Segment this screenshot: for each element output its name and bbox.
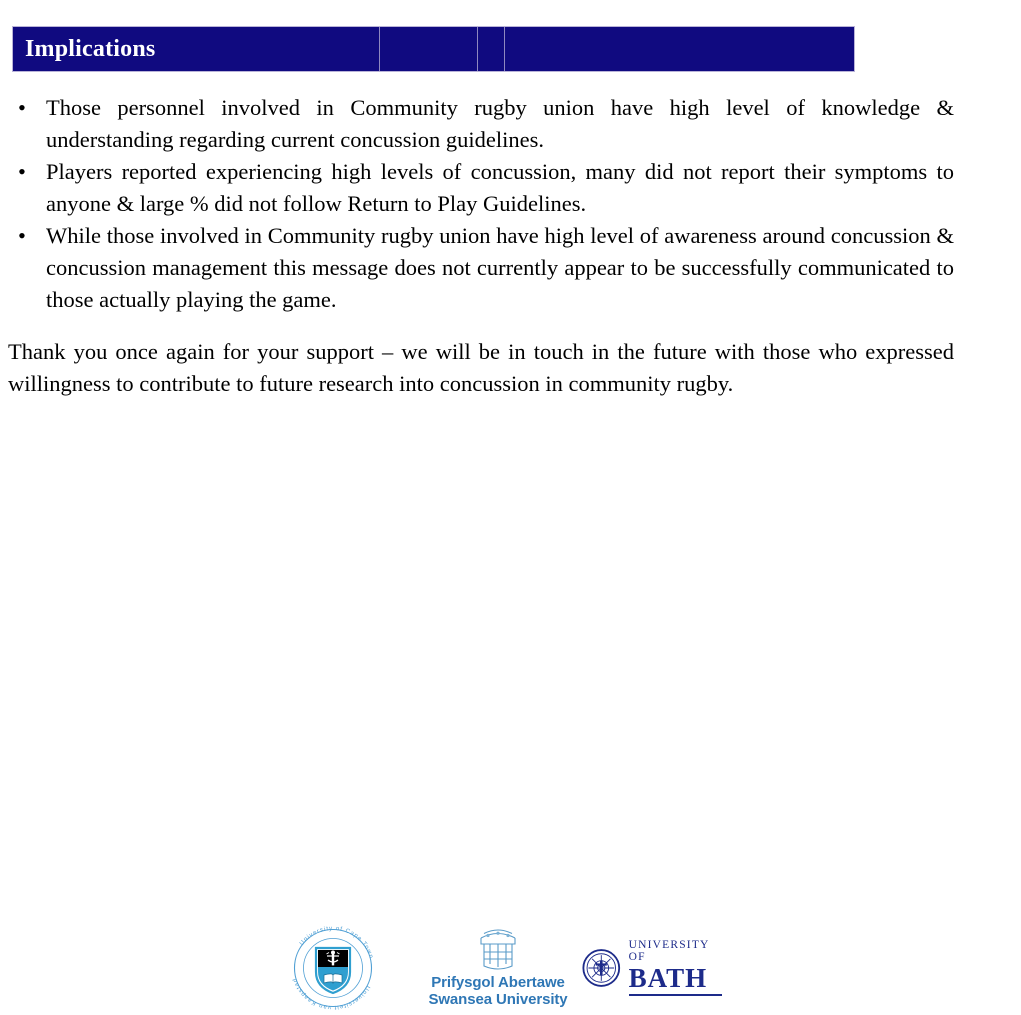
closing-paragraph: Thank you once again for your support – … [8, 336, 954, 400]
title-bar-divider-1 [379, 27, 380, 71]
bath-logo-text: UNIVERSITY OF BATH [629, 940, 722, 996]
title-bar-divider-2 [477, 27, 478, 71]
bath-logo-rule [629, 994, 722, 996]
university-of-bath-crest-icon [582, 947, 621, 989]
university-of-cape-town-seal-icon: University of Cape Town Universiteit van… [283, 922, 383, 1010]
swansea-logo-line2: Swansea University [428, 991, 567, 1008]
slide-body: • Those personnel involved in Community … [8, 92, 954, 399]
list-item-text: Players reported experiencing high level… [46, 159, 954, 216]
bullet-icon: • [18, 92, 26, 124]
list-item: • Those personnel involved in Community … [8, 92, 954, 156]
bullet-icon: • [18, 156, 26, 188]
bath-logo-line1: UNIVERSITY OF [629, 940, 722, 963]
list-item-text: Those personnel involved in Community ru… [46, 95, 954, 152]
logo-swansea-university: Prifysgol Abertawe Swansea University [428, 928, 568, 1013]
bath-logo-line2: BATH [629, 965, 722, 992]
title-bar-divider-3 [504, 27, 505, 71]
slide-title-bar: Implications [12, 26, 855, 72]
list-item-text: While those involved in Community rugby … [46, 223, 954, 312]
page-title: Implications [25, 37, 155, 61]
list-item: • Players reported experiencing high lev… [8, 156, 954, 220]
logo-university-of-bath: UNIVERSITY OF BATH [582, 944, 722, 992]
list-item: • While those involved in Community rugb… [8, 220, 954, 316]
swansea-logo-text: Prifysgol Abertawe Swansea University [428, 975, 567, 1009]
logo-university-of-cape-town: University of Cape Town Universiteit van… [283, 922, 389, 1010]
swansea-logo-line1: Prifysgol Abertawe [431, 974, 565, 991]
implications-list: • Those personnel involved in Community … [8, 92, 954, 316]
partner-logos: University of Cape Town Universiteit van… [0, 458, 1021, 558]
bullet-icon: • [18, 220, 26, 252]
swansea-university-crest-icon [471, 928, 525, 972]
